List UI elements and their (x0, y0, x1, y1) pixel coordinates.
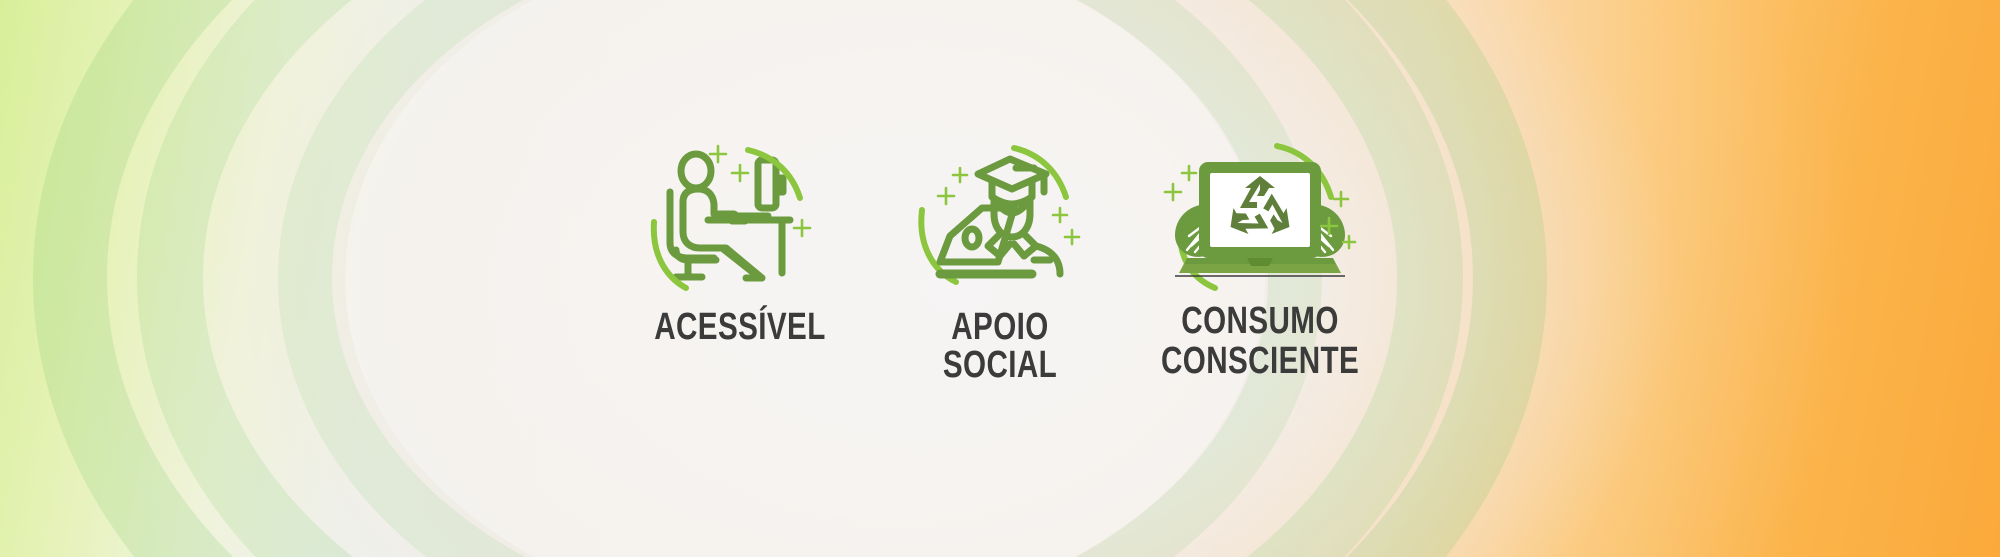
feature-acessivel[interactable]: ACESSÍVEL (625, 140, 855, 346)
features-row: ACESSÍVEL (0, 0, 2000, 557)
sparkle-icon (1053, 208, 1067, 222)
desk-person-strokes (670, 154, 790, 278)
head-shape (681, 154, 711, 188)
sparkle-icon (938, 188, 954, 204)
laptop-notch (1247, 258, 1273, 266)
monitor-screen (758, 160, 776, 208)
feature-label: ACESSÍVEL (654, 308, 826, 346)
sparkle-icon (1165, 184, 1181, 200)
feature-label: APOIO SOCIAL (910, 308, 1089, 384)
graduate-with-laptop-icon (905, 140, 1095, 290)
feature-consumo-consciente[interactable]: CONSUMO CONSCIENTE (1145, 140, 1375, 382)
sparkle-icon (710, 146, 726, 162)
sparkle-icon (1182, 166, 1196, 180)
promo-banner: ACESSÍVEL (0, 0, 2000, 557)
person-at-desk-icon (645, 140, 835, 290)
sparkle-icon (732, 165, 748, 181)
feature-apoio-social[interactable]: APOIO SOCIAL (885, 140, 1115, 384)
laptop-recycle-leaves-icon (1165, 140, 1355, 290)
sparkle-icon (1065, 230, 1079, 244)
sparkle-icon (1334, 192, 1348, 206)
feature-label: CONSUMO CONSCIENTE (1161, 302, 1359, 382)
cap-mortarboard-path (978, 159, 1046, 189)
sparkle-icon (953, 168, 967, 182)
sparkle-icon (794, 220, 810, 236)
laptop-trackpad-dot (965, 229, 979, 247)
